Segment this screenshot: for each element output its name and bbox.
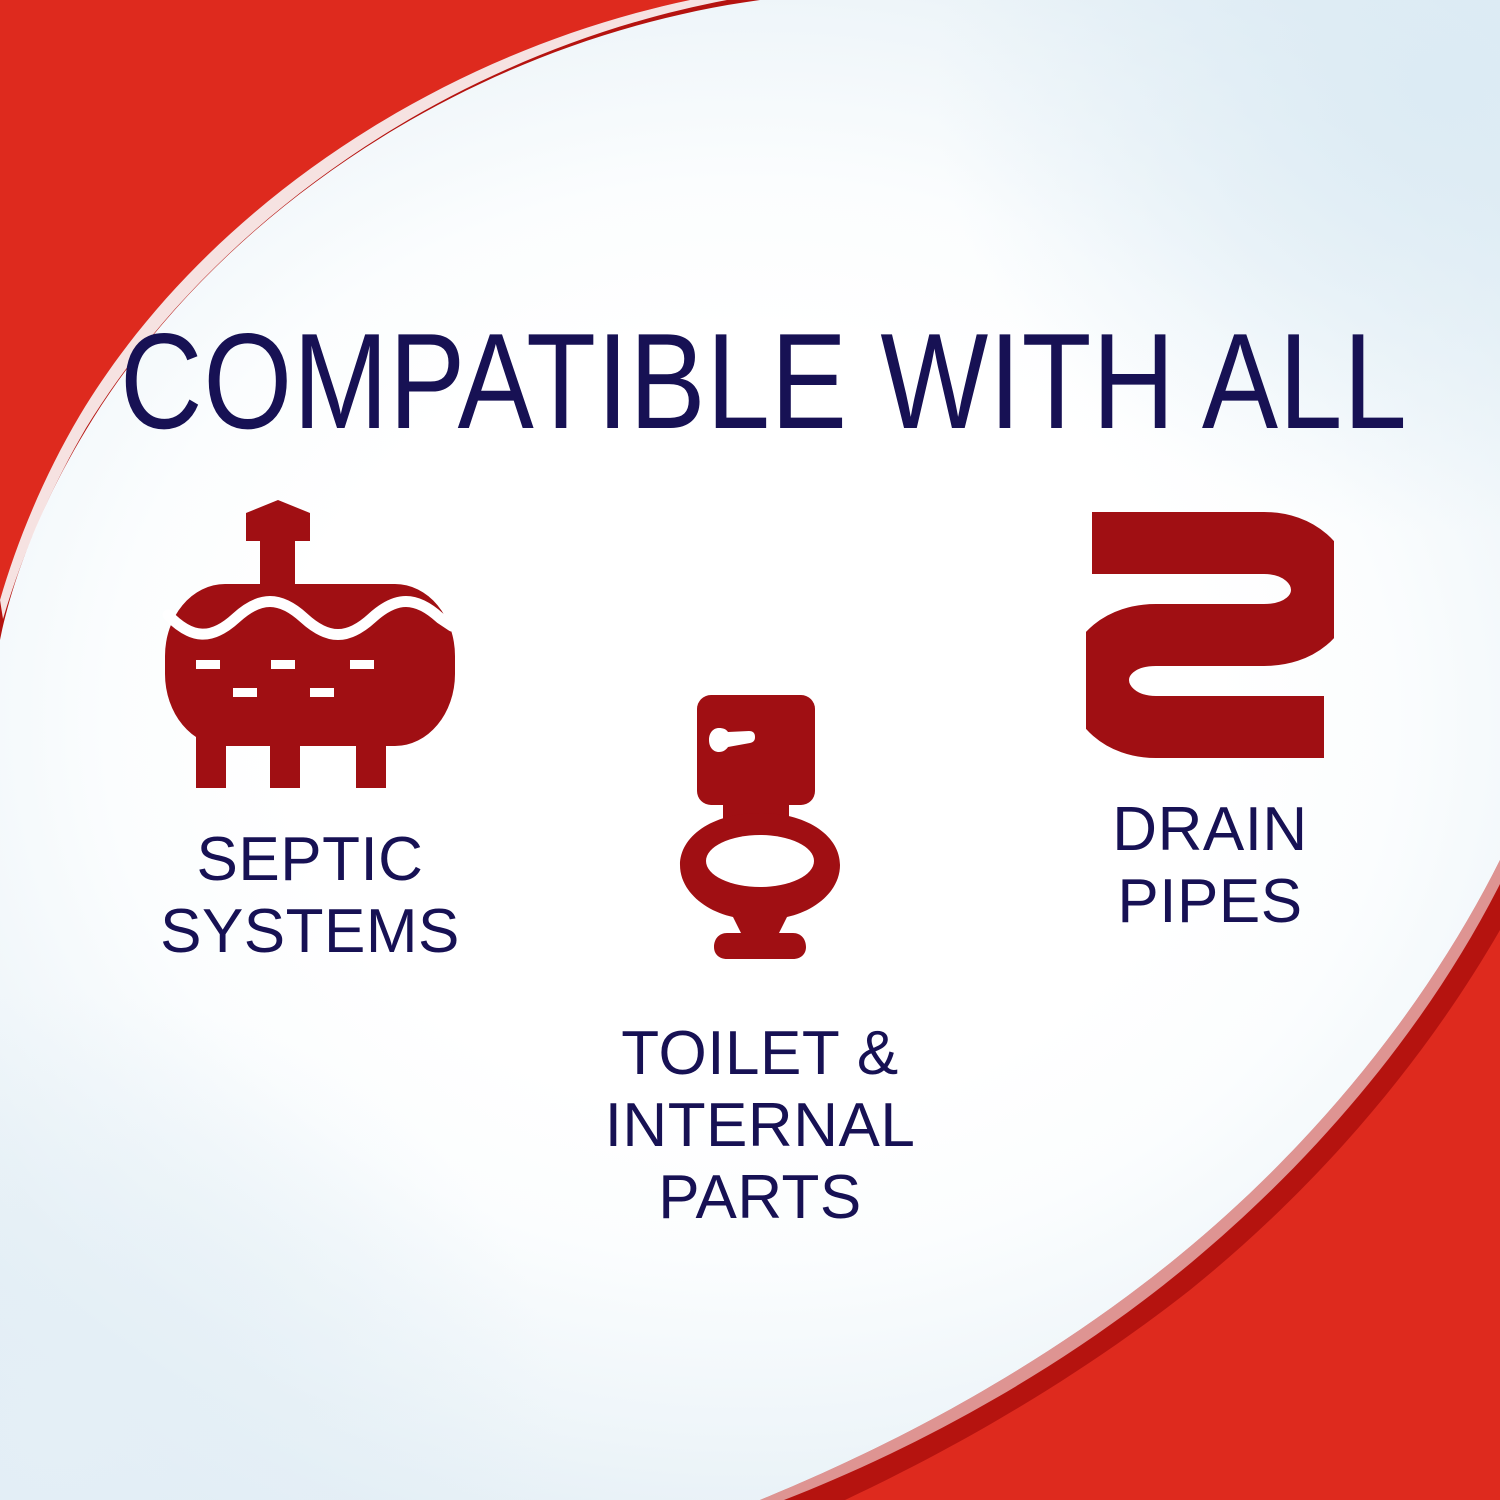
- compatibility-poster: COMPATIBLE WITH ALL: [0, 0, 1500, 1500]
- drain-pipe-icon: [1086, 500, 1334, 760]
- caption-line: SYSTEMS: [160, 896, 460, 968]
- compatibility-item-label-septic-systems: SEPTIC SYSTEMS: [160, 824, 460, 968]
- caption-line: SEPTIC: [160, 824, 460, 896]
- compatibility-item-label-toilet-internal-parts: TOILET & INTERNAL PARTS: [605, 1018, 916, 1234]
- compatibility-item-label-drain-pipes: DRAIN PIPES: [1112, 794, 1307, 938]
- caption-line: TOILET &: [605, 1018, 916, 1090]
- page-title: COMPATIBLE WITH ALL: [120, 313, 1380, 449]
- compatibility-item-septic-systems: SEPTIC SYSTEMS: [100, 500, 520, 968]
- septic-tank-icon: [160, 500, 460, 790]
- caption-line: PARTS: [605, 1162, 916, 1234]
- caption-line: PIPES: [1112, 866, 1307, 938]
- compatibility-items: SEPTIC SYSTEMS: [60, 500, 1440, 1320]
- compatibility-item-toilet-internal-parts: TOILET & INTERNAL PARTS: [550, 690, 970, 1234]
- caption-line: DRAIN: [1112, 794, 1307, 866]
- caption-line: INTERNAL: [605, 1090, 916, 1162]
- compatibility-item-drain-pipes: DRAIN PIPES: [1000, 500, 1420, 938]
- toilet-icon: [675, 690, 845, 960]
